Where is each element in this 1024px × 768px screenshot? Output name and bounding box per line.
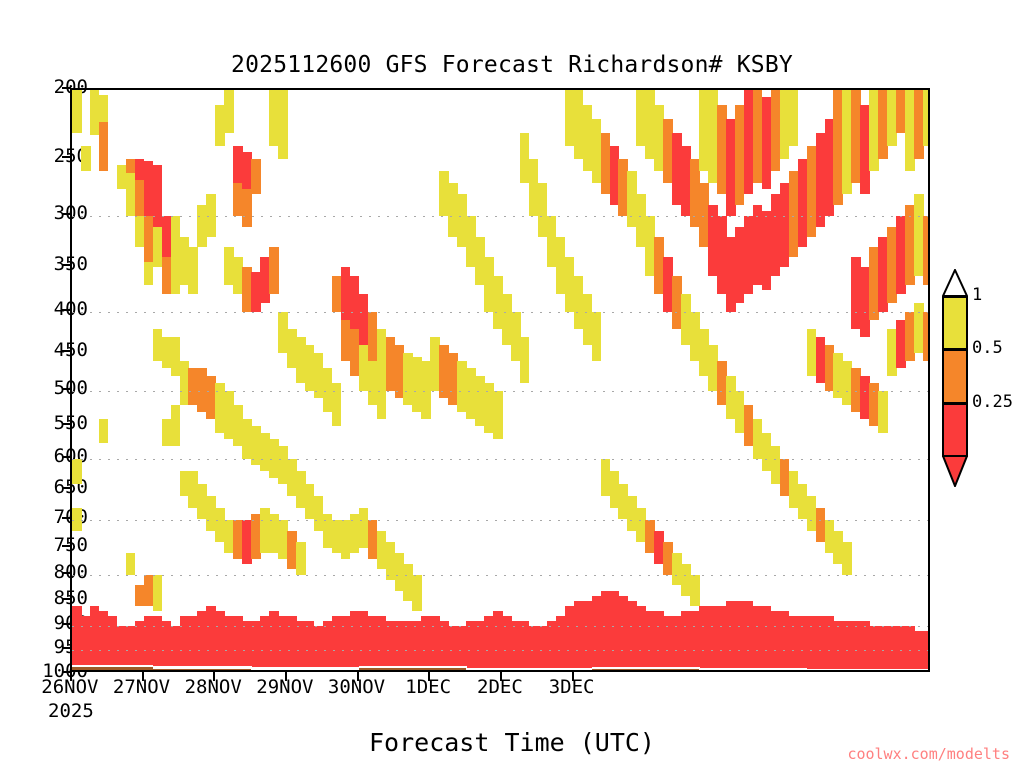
- colorbar-segment: [942, 296, 968, 350]
- heatmap-cell: [842, 542, 852, 575]
- terrain-column: [807, 671, 817, 672]
- colorbar: 10.50.25: [942, 296, 968, 456]
- heatmap-cell: [171, 405, 181, 446]
- heatmap-cell: [153, 575, 163, 611]
- heatmap-cell: [690, 575, 700, 606]
- x-axis-tick-label: 29NOV: [256, 676, 313, 698]
- y-axis-tick-mark: [62, 456, 71, 458]
- heatmap-cell: [332, 383, 342, 425]
- y-axis-tick-mark: [62, 388, 71, 390]
- chart-title: 2025112600 GFS Forecast Richardson# KSBY: [0, 52, 1024, 78]
- heatmap-cell: [188, 247, 198, 294]
- heatmap-cell: [72, 459, 82, 484]
- x-axis-tick-label: 2DEC: [477, 676, 523, 698]
- heatmap-cell: [878, 391, 888, 433]
- heatmap-cell: [72, 508, 82, 531]
- y-axis-tick-mark: [62, 647, 71, 649]
- x-axis-tick-label: 26NOV: [41, 676, 98, 698]
- credit-watermark: coolwx.com/modelts: [847, 745, 1010, 763]
- terrain-column: [547, 670, 557, 672]
- terrain-column: [717, 670, 727, 672]
- colorbar-top-cap-outline: [942, 269, 968, 297]
- heatmap-cell: [269, 247, 279, 294]
- terrain-column: [896, 671, 906, 672]
- colorbar-bottom-cap-outline: [942, 455, 968, 487]
- y-axis-tick-mark: [62, 264, 71, 266]
- y-axis-tick-mark: [62, 572, 71, 574]
- heatmap-cell: [412, 575, 422, 611]
- y-axis-tick-mark: [62, 545, 71, 547]
- terrain-column: [816, 671, 826, 672]
- terrain-column: [771, 670, 781, 672]
- heatmap-cell: [99, 122, 109, 171]
- x-axis-tick-label: 1DEC: [405, 676, 451, 698]
- heatmap-cell: [296, 542, 306, 575]
- terrain-column: [502, 670, 512, 672]
- heatmap-cell: [251, 159, 261, 195]
- heatmap-cell: [923, 90, 930, 146]
- heatmap-cell: [493, 391, 503, 440]
- y-axis-tick-mark: [62, 598, 71, 600]
- x-axis-tick-label: 30NOV: [328, 676, 385, 698]
- terrain-column: [708, 670, 718, 672]
- terrain-column: [887, 671, 897, 672]
- heatmap-cell: [81, 146, 91, 171]
- colorbar-tick-label: 0.5: [972, 338, 1003, 358]
- heatmap-plot-area: [70, 88, 930, 672]
- colorbar-tick-label: 0.25: [972, 392, 1013, 412]
- x-axis-tick-label: 28NOV: [185, 676, 242, 698]
- terrain-column: [556, 670, 566, 672]
- terrain-column: [869, 671, 879, 672]
- terrain-column: [520, 670, 530, 672]
- terrain-column: [923, 671, 930, 672]
- heatmap-cell: [923, 216, 930, 285]
- heatmap-cell: [224, 90, 234, 133]
- colorbar-segment: [942, 403, 968, 457]
- colorbar-tick-label: 1: [972, 285, 982, 305]
- colorbar-segment: [942, 349, 968, 403]
- terrain-column: [780, 670, 790, 672]
- heatmap-cell: [592, 312, 602, 361]
- x-axis-year-label: 2025: [48, 700, 94, 722]
- heatmap-cell: [126, 553, 136, 575]
- heatmap-cell: [520, 337, 530, 383]
- terrain-column: [798, 670, 808, 672]
- terrain-column: [726, 670, 736, 672]
- terrain-column: [475, 670, 485, 672]
- heatmap-cell: [923, 631, 930, 672]
- heatmap-cell: [99, 95, 109, 122]
- terrain-column: [574, 670, 584, 672]
- y-axis-tick-mark: [62, 517, 71, 519]
- y-axis-tick-mark: [62, 423, 71, 425]
- y-axis-tick-mark: [62, 623, 71, 625]
- terrain-column: [833, 671, 843, 672]
- terrain-column: [905, 671, 915, 672]
- terrain-column: [878, 671, 888, 672]
- terrain-column: [914, 671, 924, 672]
- heatmap-cells-layer: [72, 90, 928, 670]
- x-axis-tick-label: 3DEC: [549, 676, 595, 698]
- y-axis-tick-mark: [62, 87, 71, 89]
- y-axis-tick-mark: [62, 156, 71, 158]
- terrain-column: [842, 671, 852, 672]
- heatmap-cell: [206, 194, 216, 237]
- y-axis-tick-mark: [62, 309, 71, 311]
- terrain-column: [753, 670, 763, 672]
- y-axis-tick-mark: [62, 350, 71, 352]
- terrain-column: [484, 670, 494, 672]
- terrain-column: [860, 671, 870, 672]
- terrain-column: [744, 670, 754, 672]
- terrain-column: [511, 670, 521, 672]
- terrain-column: [466, 670, 476, 672]
- heatmap-cell: [72, 90, 82, 133]
- terrain-column: [529, 670, 539, 672]
- chart-page: 2025112600 GFS Forecast Richardson# KSBY…: [0, 0, 1024, 768]
- terrain-column: [699, 670, 709, 672]
- heatmap-cell: [99, 419, 109, 443]
- heatmap-cell: [242, 189, 252, 227]
- heatmap-cell: [278, 90, 288, 159]
- heatmap-cell: [923, 312, 930, 361]
- heatmap-cell: [789, 90, 799, 146]
- y-axis-tick-mark: [62, 213, 71, 215]
- terrain-column: [762, 670, 772, 672]
- terrain-column: [851, 671, 861, 672]
- terrain-column: [583, 670, 593, 672]
- terrain-column: [789, 670, 799, 672]
- x-axis-tick-label: 27NOV: [113, 676, 170, 698]
- terrain-column: [735, 670, 745, 672]
- y-axis-tick-mark: [62, 487, 71, 489]
- terrain-column: [825, 671, 835, 672]
- terrain-column: [538, 670, 548, 672]
